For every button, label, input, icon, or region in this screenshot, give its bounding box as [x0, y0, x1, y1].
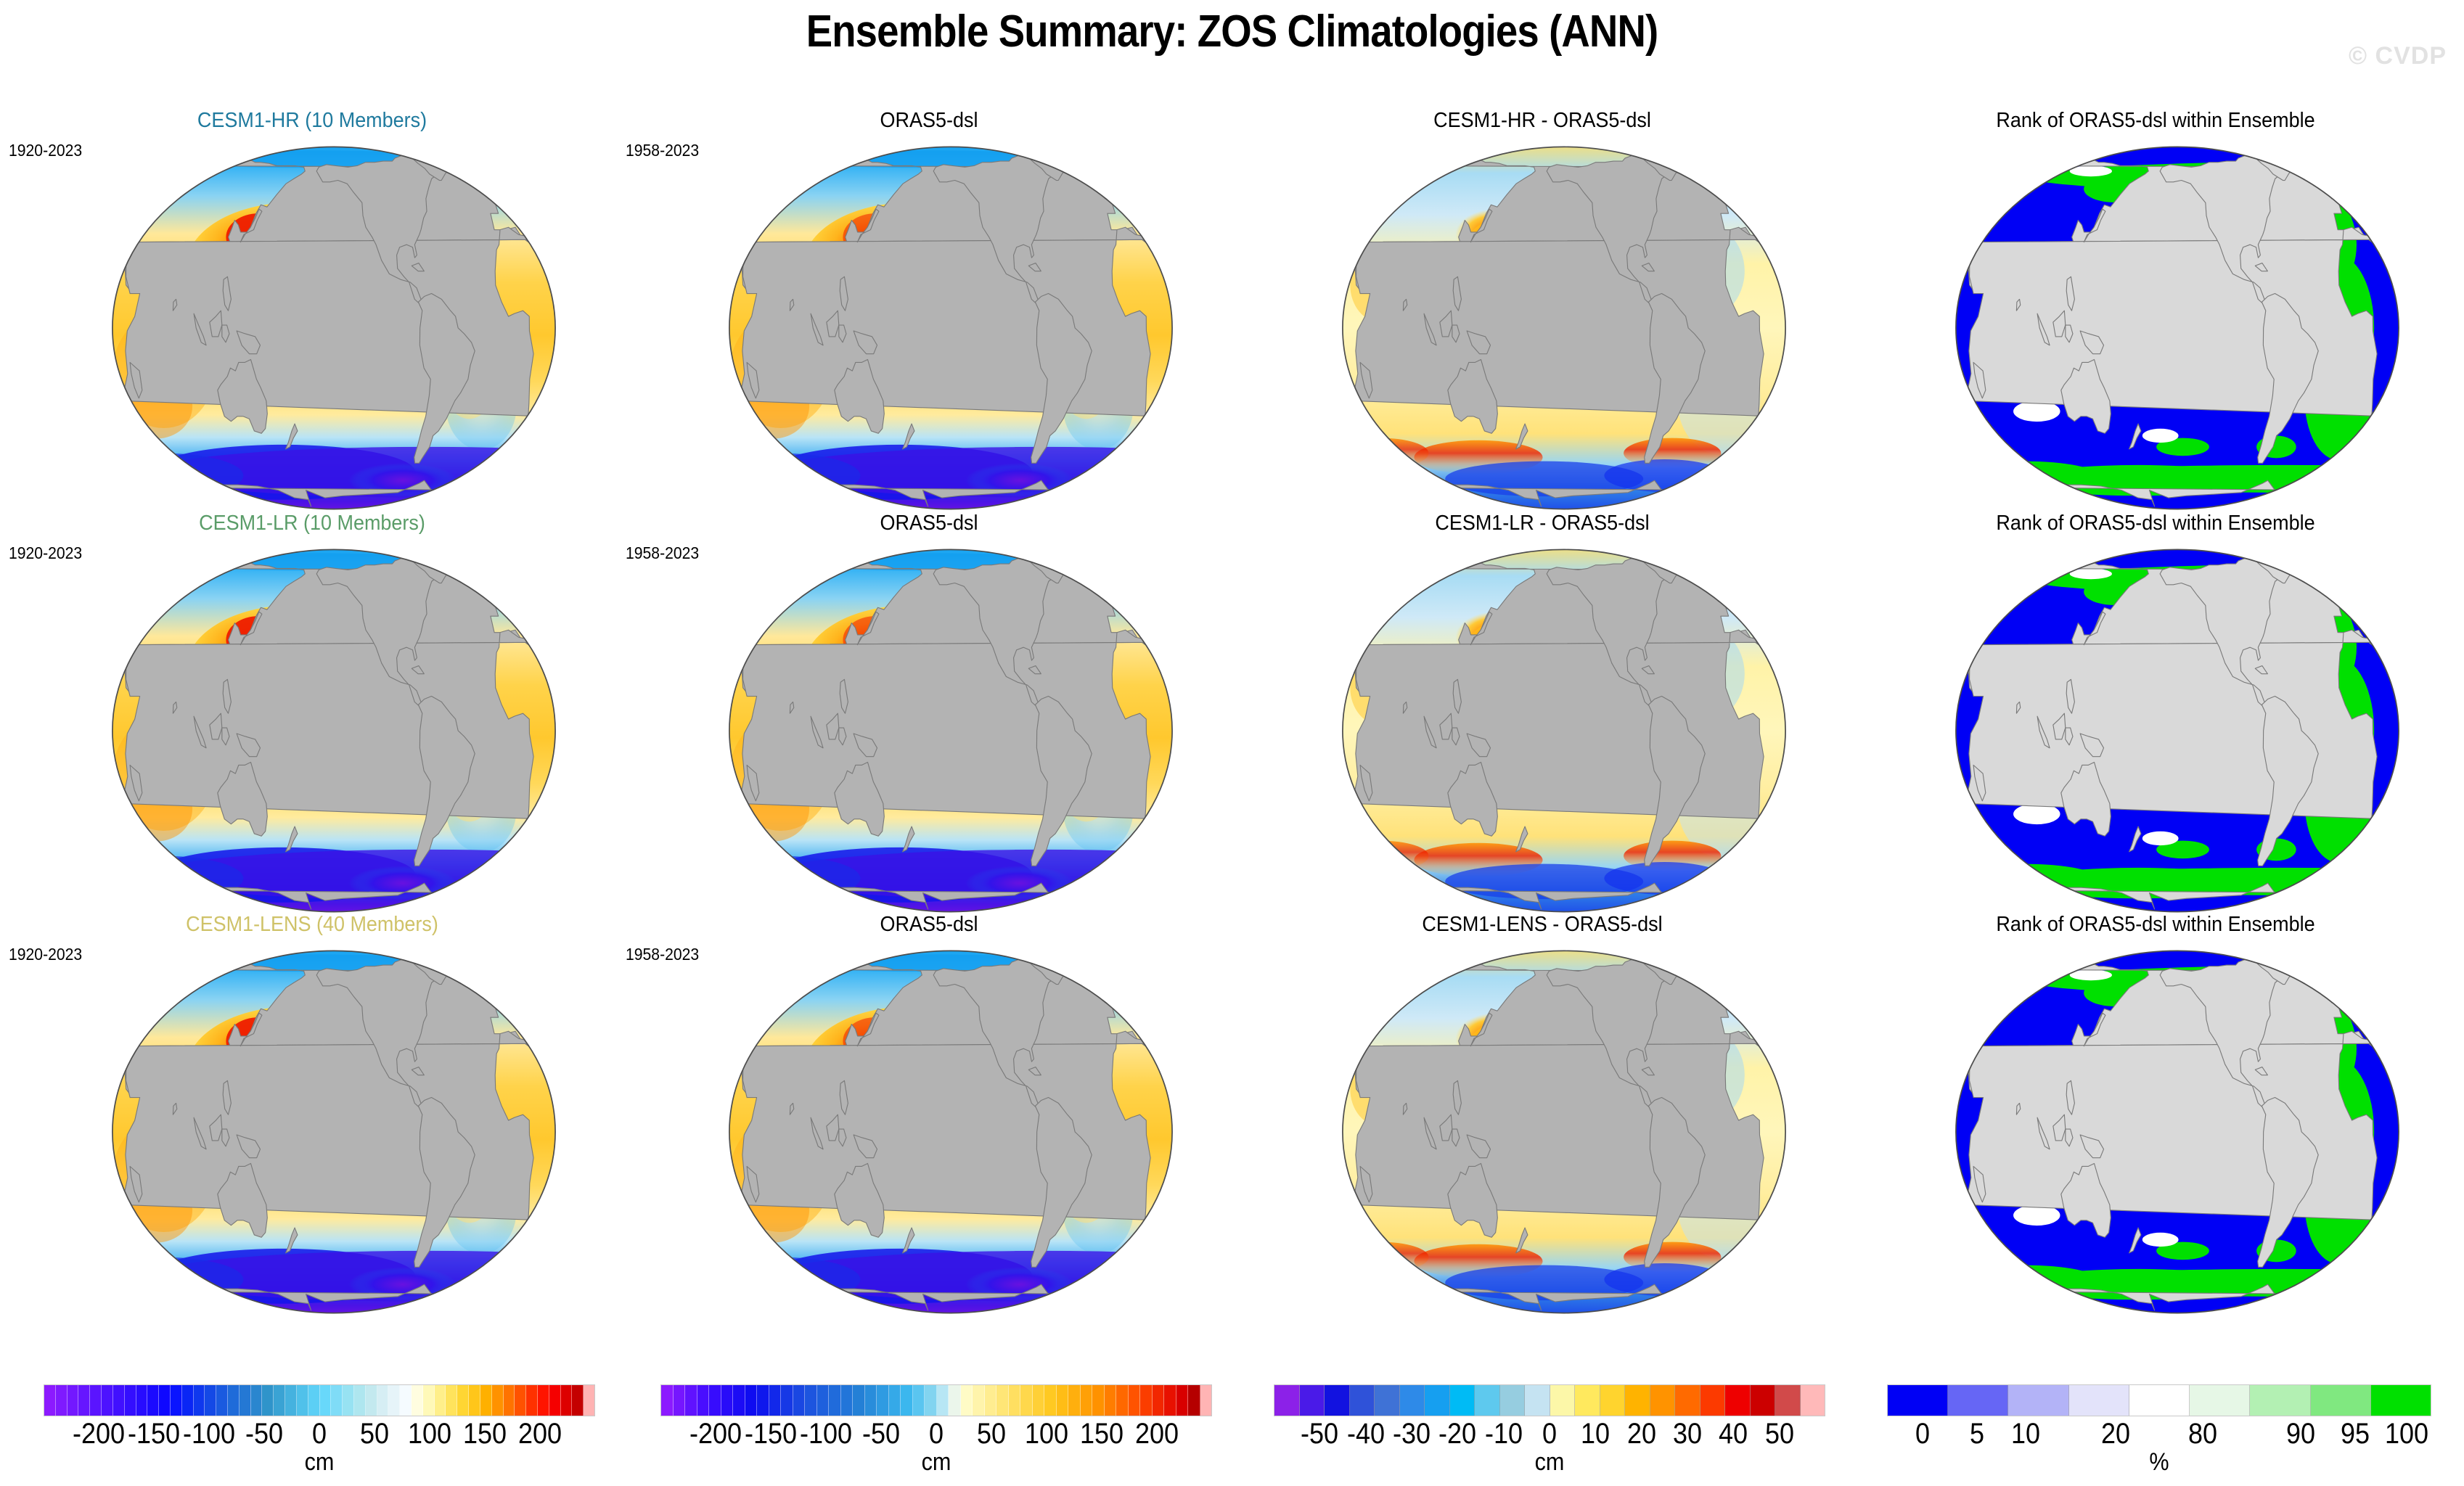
- colorbar-tick-label: -150: [745, 1418, 797, 1450]
- panel-title: Rank of ORAS5-dsl within Ensemble: [1872, 109, 2439, 133]
- map-svg: [660, 139, 1241, 517]
- landmass-iceland: [2299, 171, 2309, 176]
- colorbar-tick-label: 10: [2011, 1418, 2040, 1450]
- panel-title: ORAS5-dsl: [645, 913, 1212, 937]
- landmass-africa: [740, 630, 1158, 826]
- map-svg: [1274, 139, 1854, 517]
- colorbar-unit: cm: [688, 1448, 1184, 1477]
- colorbar-tick-label: 0: [929, 1418, 944, 1450]
- landmass-africa: [1353, 1031, 1771, 1228]
- colorbar-cbar-rank[interactable]: 051020809095100%: [1887, 1384, 2431, 1486]
- colorbar-tick-label: -200: [689, 1418, 742, 1450]
- colorbar-ticks: 051020809095100: [1887, 1418, 2431, 1450]
- colorbar-tick-label: 20: [1627, 1418, 1656, 1450]
- colorbar-ticks: -200-150-100-50050100150200: [44, 1418, 595, 1450]
- landmass-africa: [740, 227, 1158, 424]
- colorbar-tick-label: 0: [1542, 1418, 1557, 1450]
- landmass-iceland: [456, 171, 465, 176]
- colorbar-tick-label: 10: [1581, 1418, 1610, 1450]
- colorbar-tick-label: -150: [128, 1418, 180, 1450]
- landmass-iceland: [1686, 171, 1695, 176]
- panel-title: CESM1-LR - ORAS5-dsl: [1258, 512, 1825, 535]
- landmass-africa: [1353, 630, 1771, 826]
- map-cesm1-lens-rank[interactable]: [1887, 943, 2464, 1321]
- colorbar-tick-label: -40: [1347, 1418, 1385, 1450]
- map-svg: [1274, 542, 1854, 919]
- panel-title: CESM1-LR (10 Members): [28, 512, 595, 535]
- panel-title: ORAS5-dsl: [645, 109, 1212, 133]
- map-svg: [44, 139, 624, 517]
- map-cesm1-hr-obs[interactable]: [660, 139, 1241, 517]
- colorbar-tick-label: 150: [1080, 1418, 1123, 1450]
- colorbar-tick-label: -10: [1485, 1418, 1523, 1450]
- map-cesm1-hr-diff[interactable]: [1274, 139, 1854, 517]
- map-svg: [660, 943, 1241, 1321]
- map-cesm1-lr-obs[interactable]: [660, 542, 1241, 919]
- landmass-africa: [123, 1031, 541, 1228]
- landmass-iceland: [2299, 574, 2309, 578]
- landmass-africa: [123, 630, 541, 826]
- panel-cesm1-lens-obs[interactable]: ORAS5-dsl1958-2023: [624, 913, 1234, 1321]
- field-blob: [2142, 429, 2179, 443]
- landmass-africa: [1966, 1031, 2384, 1228]
- figure-title: Ensemble Summary: ZOS Climatologies (ANN…: [148, 6, 2317, 57]
- landmass-svalbard: [472, 959, 481, 962]
- panel-title: CESM1-HR - ORAS5-dsl: [1258, 109, 1825, 133]
- colorbar-tick-label: 100: [2385, 1418, 2428, 1450]
- colorbar-tick-label: -30: [1393, 1418, 1430, 1450]
- colorbar-tick-label: -50: [245, 1418, 283, 1450]
- colorbar-tick-label: 80: [2188, 1418, 2217, 1450]
- panel-cesm1-lens-model[interactable]: CESM1-LENS (40 Members)1920-2023: [7, 913, 617, 1321]
- colorbar-tick-label: 0: [1915, 1418, 1930, 1450]
- panel-cesm1-lens-rank[interactable]: Rank of ORAS5-dsl within Ensemble: [1851, 913, 2460, 1321]
- figure-root: Ensemble Summary: ZOS Climatologies (ANN…: [0, 0, 2464, 1485]
- panel-cesm1-lr-model[interactable]: CESM1-LR (10 Members)1920-2023: [7, 512, 617, 919]
- landmass-africa: [1966, 227, 2384, 424]
- map-cesm1-lr-diff[interactable]: [1274, 542, 1854, 919]
- colorbar-tick-label: -50: [862, 1418, 900, 1450]
- colorbar-tick-label: 50: [1765, 1418, 1794, 1450]
- field-blob: [1604, 1263, 1724, 1296]
- field-blob: [700, 1257, 861, 1302]
- landmass-africa: [1966, 630, 2384, 826]
- panel-title: CESM1-HR (10 Members): [28, 109, 595, 133]
- panel-cesm1-hr-diff[interactable]: CESM1-HR - ORAS5-dsl: [1237, 109, 1847, 517]
- field-blob: [1331, 438, 1428, 469]
- panel-title: Rank of ORAS5-dsl within Ensemble: [1872, 913, 2439, 937]
- colorbar-tick-label: 95: [2341, 1418, 2370, 1450]
- colorbar-tick-label: 100: [1025, 1418, 1068, 1450]
- panel-title: CESM1-LENS - ORAS5-dsl: [1258, 913, 1825, 937]
- landmass-svalbard: [472, 155, 481, 158]
- panel-cesm1-lr-rank[interactable]: Rank of ORAS5-dsl within Ensemble: [1851, 512, 2460, 919]
- colorbar-gradient: [1887, 1384, 2431, 1416]
- map-cesm1-lens-obs[interactable]: [660, 943, 1241, 1321]
- landmass-iceland: [456, 975, 465, 980]
- panel-cesm1-lens-diff[interactable]: CESM1-LENS - ORAS5-dsl: [1237, 913, 1847, 1321]
- colorbar-cbar-climatology-2[interactable]: -200-150-100-50050100150200cm: [660, 1384, 1212, 1486]
- landmass-svalbard: [1089, 558, 1098, 561]
- map-cesm1-lens-model[interactable]: [44, 943, 624, 1321]
- map-cesm1-lens-diff[interactable]: [1274, 943, 1854, 1321]
- cvdp-watermark: © CVDP: [2349, 42, 2447, 70]
- panel-cesm1-lr-obs[interactable]: ORAS5-dsl1958-2023: [624, 512, 1234, 919]
- map-svg: [44, 542, 624, 919]
- map-svg: [1887, 943, 2464, 1321]
- colorbar-unit: cm: [1301, 1448, 1798, 1477]
- landmass-africa: [123, 227, 541, 424]
- colorbar-tick-label: 100: [408, 1418, 451, 1450]
- landmass-iceland: [1686, 975, 1695, 980]
- landmass-africa: [1353, 227, 1771, 424]
- field-blob: [1604, 459, 1724, 492]
- panel-cesm1-hr-model[interactable]: CESM1-HR (10 Members)1920-2023: [7, 109, 617, 517]
- field-blob: [2142, 1233, 2179, 1247]
- colorbar-tick-label: 0: [312, 1418, 327, 1450]
- field-blob: [1604, 862, 1724, 895]
- landmass-iceland: [1686, 574, 1695, 578]
- colorbar-unit: cm: [71, 1448, 568, 1477]
- colorbar-gradient: [1274, 1384, 1825, 1416]
- panel-cesm1-lr-diff[interactable]: CESM1-LR - ORAS5-dsl: [1237, 512, 1847, 919]
- map-svg: [1887, 542, 2464, 919]
- field-blob: [700, 453, 861, 498]
- colorbar-gradient: [660, 1384, 1212, 1416]
- landmass-svalbard: [1702, 959, 1711, 962]
- landmass-svalbard: [1702, 558, 1711, 561]
- landmass-svalbard: [1702, 155, 1711, 158]
- field-blob: [1331, 841, 1428, 871]
- landmass-svalbard: [2315, 558, 2325, 561]
- map-svg: [660, 542, 1241, 919]
- colorbar-cbar-climatology-1[interactable]: -200-150-100-50050100150200cm: [44, 1384, 595, 1486]
- map-cesm1-hr-model[interactable]: [44, 139, 624, 517]
- colorbar-tick-label: 90: [2286, 1418, 2315, 1450]
- field-blob: [700, 856, 861, 901]
- landmass-iceland: [2299, 975, 2309, 980]
- colorbar-tick-label: 50: [977, 1418, 1006, 1450]
- colorbar-tick-label: 40: [1719, 1418, 1748, 1450]
- map-svg: [1887, 139, 2464, 517]
- colorbar-tick-label: 20: [2101, 1418, 2130, 1450]
- colorbar-tick-label: 50: [360, 1418, 389, 1450]
- landmass-svalbard: [1089, 155, 1098, 158]
- field-blob: [83, 1257, 244, 1302]
- colorbar-tick-label: -100: [183, 1418, 235, 1450]
- landmass-svalbard: [472, 558, 481, 561]
- landmass-africa: [740, 1031, 1158, 1228]
- colorbar-tick-label: 200: [518, 1418, 562, 1450]
- landmass-iceland: [456, 574, 465, 578]
- landmass-iceland: [1073, 975, 1082, 980]
- landmass-svalbard: [1089, 959, 1098, 962]
- landmass-svalbard: [2315, 959, 2325, 962]
- panel-cesm1-hr-rank[interactable]: Rank of ORAS5-dsl within Ensemble: [1851, 109, 2460, 517]
- field-blob: [83, 453, 244, 498]
- landmass-svalbard: [2315, 155, 2325, 158]
- panel-title: Rank of ORAS5-dsl within Ensemble: [1872, 512, 2439, 535]
- map-cesm1-hr-rank[interactable]: [1887, 139, 2464, 517]
- colorbar-gradient: [44, 1384, 595, 1416]
- panel-cesm1-hr-obs[interactable]: ORAS5-dsl1958-2023: [624, 109, 1234, 517]
- map-svg: [1274, 943, 1854, 1321]
- colorbar-tick-label: -100: [800, 1418, 852, 1450]
- colorbar-tick-label: 30: [1673, 1418, 1702, 1450]
- field-blob: [1331, 1242, 1428, 1273]
- colorbar-tick-label: 150: [463, 1418, 507, 1450]
- map-cesm1-lr-model[interactable]: [44, 542, 624, 919]
- colorbar-tick-label: 5: [1970, 1418, 1984, 1450]
- map-cesm1-lr-rank[interactable]: [1887, 542, 2464, 919]
- landmass-iceland: [1073, 574, 1082, 578]
- colorbar-tick-label: -200: [73, 1418, 125, 1450]
- colorbar-ticks: -200-150-100-50050100150200: [660, 1418, 1212, 1450]
- panel-title: CESM1-LENS (40 Members): [28, 913, 595, 937]
- colorbar-ticks: -50-40-30-20-1001020304050: [1274, 1418, 1825, 1450]
- panel-title: ORAS5-dsl: [645, 512, 1212, 535]
- colorbar-tick-label: -50: [1301, 1418, 1338, 1450]
- colorbar-tick-label: -20: [1438, 1418, 1476, 1450]
- landmass-iceland: [1073, 171, 1082, 176]
- field-blob: [83, 856, 244, 901]
- colorbar-cbar-difference[interactable]: -50-40-30-20-1001020304050cm: [1274, 1384, 1825, 1486]
- map-svg: [44, 943, 624, 1321]
- colorbar-tick-label: 200: [1135, 1418, 1179, 1450]
- field-blob: [2142, 832, 2179, 845]
- colorbar-unit: %: [1915, 1448, 2404, 1477]
